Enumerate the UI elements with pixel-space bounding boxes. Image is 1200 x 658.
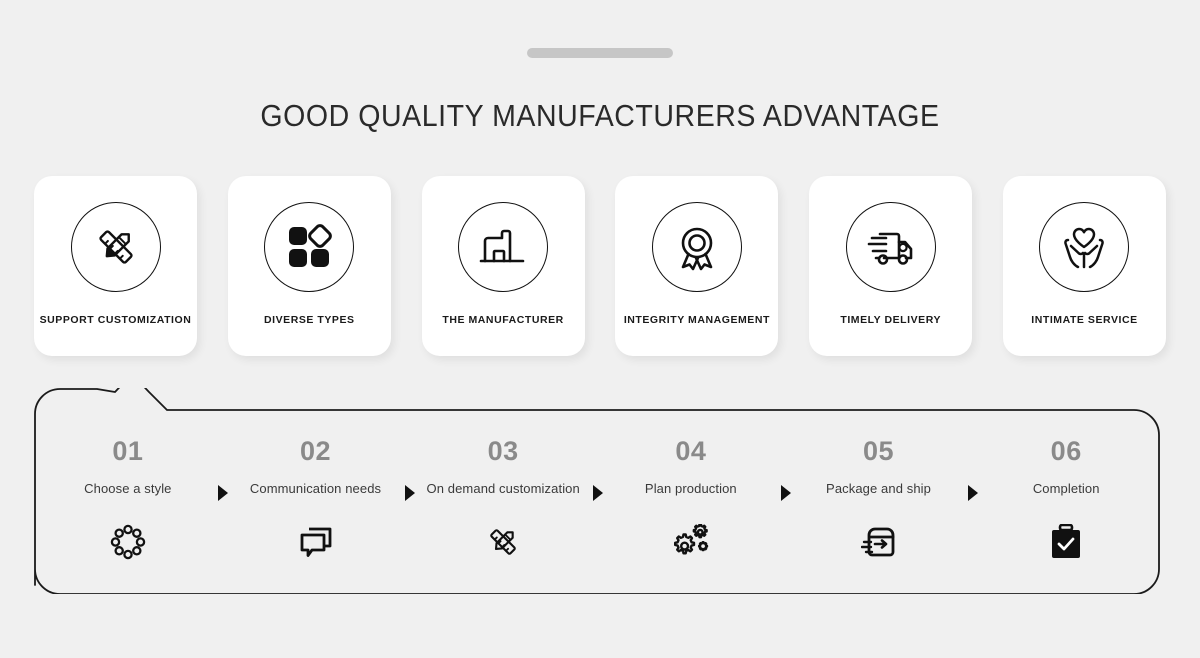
advantage-card-integrity-management[interactable]: INTEGRITY MANAGEMENT bbox=[615, 176, 778, 356]
advantage-card-label: TIMELY DELIVERY bbox=[840, 314, 941, 326]
advantage-card-the-manufacturer[interactable]: THE MANUFACTURER bbox=[422, 176, 585, 356]
advantage-card-label: THE MANUFACTURER bbox=[442, 314, 563, 326]
process-step-06[interactable]: 06 Completion bbox=[972, 410, 1160, 562]
step-label: Plan production bbox=[645, 481, 737, 496]
delivery-truck-icon bbox=[846, 202, 936, 292]
advantage-card-label: INTEGRITY MANAGEMENT bbox=[624, 314, 770, 326]
four-shapes-icon bbox=[264, 202, 354, 292]
advantage-card-label: DIVERSE TYPES bbox=[264, 314, 355, 326]
step-label: Communication needs bbox=[250, 481, 381, 496]
advantage-card-support-customization[interactable]: SUPPORT CUSTOMIZATION bbox=[34, 176, 197, 356]
step-number: 03 bbox=[488, 438, 519, 465]
page-title: GOOD QUALITY MANUFACTURERS ADVANTAGE bbox=[48, 98, 1152, 134]
process-step-03[interactable]: 03 On demand customization bbox=[409, 410, 597, 562]
factory-icon bbox=[458, 202, 548, 292]
advantage-cards: SUPPORT CUSTOMIZATION DIVERSE TYPES THE … bbox=[34, 176, 1166, 356]
process-steps-panel: 01 Choose a style 02 Communi bbox=[34, 388, 1160, 594]
process-step-01[interactable]: 01 Choose a style bbox=[34, 410, 222, 562]
step-label: Package and ship bbox=[826, 481, 931, 496]
step-number: 05 bbox=[863, 438, 894, 465]
circle-ring-dots-icon bbox=[110, 522, 146, 562]
process-step-02[interactable]: 02 Communication needs bbox=[222, 410, 410, 562]
hands-heart-icon bbox=[1039, 202, 1129, 292]
package-arrow-icon bbox=[861, 522, 897, 562]
step-label: On demand customization bbox=[427, 481, 580, 496]
award-ribbon-icon bbox=[652, 202, 742, 292]
advantage-card-intimate-service[interactable]: INTIMATE SERVICE bbox=[1003, 176, 1166, 356]
steps-grid: 01 Choose a style 02 Communi bbox=[34, 410, 1160, 594]
process-step-04[interactable]: 04 Plan production bbox=[597, 410, 785, 562]
advantage-card-diverse-types[interactable]: DIVERSE TYPES bbox=[228, 176, 391, 356]
step-number: 02 bbox=[300, 438, 331, 465]
pencil-ruler-cross-icon bbox=[71, 202, 161, 292]
step-number: 04 bbox=[675, 438, 706, 465]
top-pill-divider bbox=[527, 48, 673, 58]
gears-icon bbox=[672, 522, 710, 562]
step-number: 01 bbox=[112, 438, 143, 465]
pencil-ruler-cross-icon bbox=[484, 522, 522, 562]
chat-bubbles-icon bbox=[299, 522, 333, 562]
step-label: Completion bbox=[1033, 481, 1100, 496]
advantage-card-label: INTIMATE SERVICE bbox=[1031, 314, 1137, 326]
step-number: 06 bbox=[1051, 438, 1082, 465]
step-label: Choose a style bbox=[84, 481, 171, 496]
clipboard-check-icon bbox=[1050, 522, 1082, 562]
process-step-05[interactable]: 05 Package and ship bbox=[785, 410, 973, 562]
advantage-card-timely-delivery[interactable]: TIMELY DELIVERY bbox=[809, 176, 972, 356]
advantage-card-label: SUPPORT CUSTOMIZATION bbox=[40, 314, 192, 326]
